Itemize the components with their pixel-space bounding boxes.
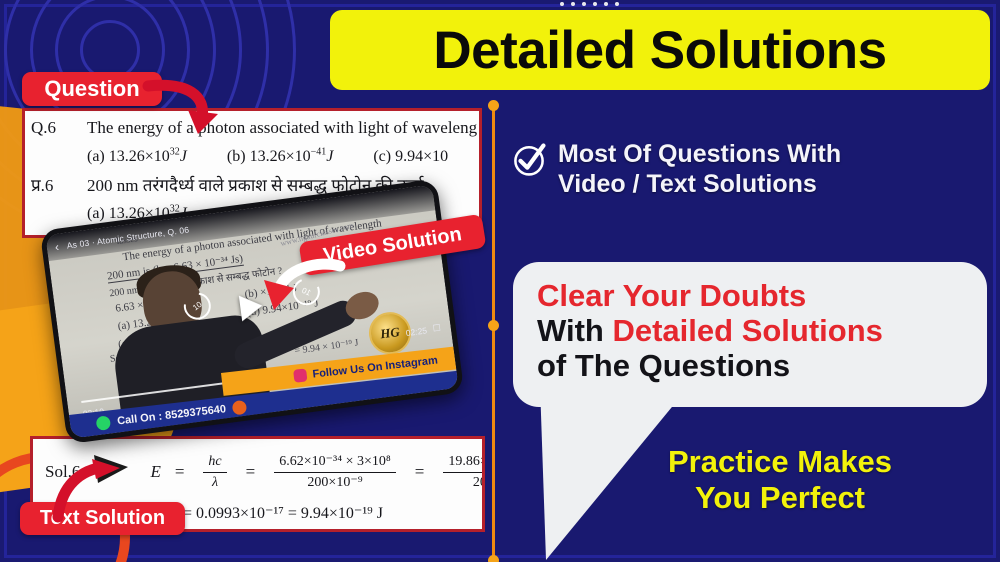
question-tag-badge: Question [22,72,162,106]
feature-bullet-text: Most Of Questions With Video / Text Solu… [558,140,841,199]
chevron-left-icon[interactable]: ‹ [54,241,60,253]
bubble-line-1: Clear Your Doubts [537,278,987,313]
feature-bullet-row: Most Of Questions With Video / Text Solu… [512,140,990,199]
play-icon[interactable] [239,293,264,322]
check-circle-icon [512,143,546,177]
poster-canvas: Detailed Solutions Q.6 The energy of a p… [0,0,1000,562]
cast-icon[interactable]: ☐ [432,323,441,335]
text-solution-tag-badge: Text Solution [20,502,185,535]
video-screen[interactable]: The energy of a photon associated with l… [45,184,458,438]
option-a: (a) 13.26×1032J [87,148,187,165]
energy-symbol: E [150,462,160,482]
option-b: (b) 13.26×10−41J [227,148,333,165]
fraction-hc-lambda: hc λ [203,453,226,491]
poster-title-box: Detailed Solutions [330,10,990,90]
question-options-row: (a) 13.26×1032J (b) 13.26×10−41J (c) 9.9… [87,147,479,166]
feature-bullet-line-1: Most Of Questions With [558,140,841,170]
question-label: Q.6 [31,118,87,138]
solution-result-line: = 0.0993×10⁻¹⁷ = 9.94×10⁻¹⁹ J [183,503,383,523]
option-c: (c) 9.94×10 [373,148,448,165]
practice-line-1: Practice Makes [668,444,892,480]
video-time-remaining: 02:25 [405,325,427,338]
fraction-planck-c: 6.62×10⁻³⁴ × 3×10⁸ 200×10⁻⁹ [274,453,396,491]
question-text: The energy of a photon associated with l… [87,118,477,138]
phone-icon [232,400,247,415]
feature-bullet-line-2: Video / Text Solutions [558,170,841,200]
solution-label: Sol.6 [45,462,80,482]
whatsapp-icon [96,415,111,430]
speech-bubble: Clear Your Doubts With Detailed Solution… [513,262,987,407]
bubble-line-3: of The Questions [537,348,987,383]
instagram-icon [293,368,307,382]
practice-line-2: You Perfect [668,480,892,516]
vertical-divider [492,105,495,560]
question-line: Q.6 The energy of a photon associated wi… [31,118,479,138]
practice-slogan: Practice Makes You Perfect [668,444,892,516]
page-title: Detailed Solutions [433,20,886,81]
title-dots-decoration [560,2,619,6]
fraction-result: 19.86×10⁻¹⁷ 200 [443,453,485,491]
hindi-question-label: प्र.6 [31,173,87,196]
solution-formula-line: Sol.6 E = hc λ = 6.62×10⁻³⁴ × 3×10⁸ 200×… [45,453,485,491]
bubble-line-2: With Detailed Solutions [537,313,987,348]
